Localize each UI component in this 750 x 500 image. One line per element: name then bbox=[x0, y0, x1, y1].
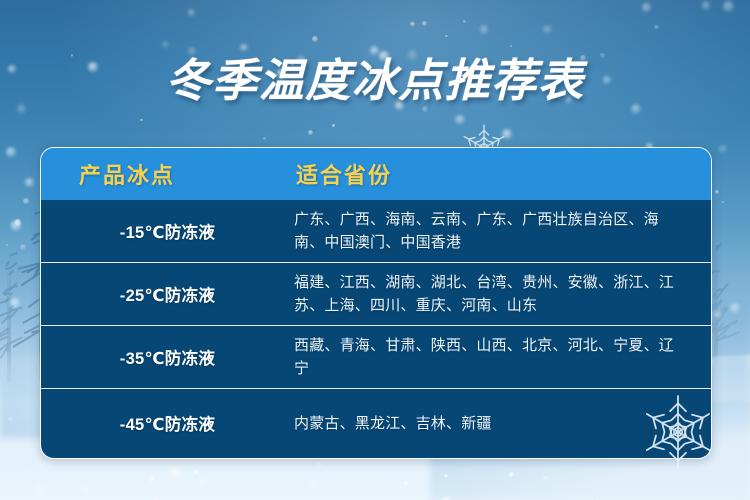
cell-suitable-provinces: 内蒙古、黑龙江、吉林、新疆 bbox=[294, 412, 711, 435]
cell-suitable-provinces: 西藏、青海、甘肃、陕西、山西、北京、河北、宁夏、辽宁 bbox=[294, 334, 711, 380]
column-header-label: 适合省份 bbox=[296, 163, 392, 188]
cell-product-freezing-point: -45℃防冻液 bbox=[41, 411, 294, 435]
table-row: -35℃防冻液 西藏、青海、甘肃、陕西、山西、北京、河北、宁夏、辽宁 bbox=[41, 326, 711, 389]
table-header-row: 产品冰点 适合省份 bbox=[41, 148, 711, 200]
page-title: 冬季温度冰点推荐表 bbox=[0, 44, 750, 109]
cell-product-freezing-point: -35℃防冻液 bbox=[41, 345, 294, 369]
table-header-cell-temp: 产品冰点 bbox=[41, 158, 294, 190]
table-row: -45℃防冻液 内蒙古、黑龙江、吉林、新疆 bbox=[41, 389, 711, 457]
table-header-cell-provinces: 适合省份 bbox=[294, 158, 711, 190]
cell-suitable-provinces: 广东、广西、海南、云南、广东、广西壮族自治区、海南、中国澳门、中国香港 bbox=[294, 208, 711, 254]
cell-product-freezing-point: -25℃防冻液 bbox=[41, 282, 294, 306]
table-row: -15℃防冻液 广东、广西、海南、云南、广东、广西壮族自治区、海南、中国澳门、中… bbox=[41, 200, 711, 263]
poster-canvas: 冬季温度冰点推荐表 bbox=[0, 0, 750, 500]
recommendation-table: 产品冰点 适合省份 -15℃防冻液 广东、广西、海南、云南、广东、广西壮族自治区… bbox=[40, 147, 712, 459]
table-row: -25℃防冻液 福建、江西、湖南、湖北、台湾、贵州、安徽、浙江、江苏、上海、四川… bbox=[41, 263, 711, 326]
column-header-label: 产品冰点 bbox=[79, 163, 175, 188]
cell-suitable-provinces: 福建、江西、湖南、湖北、台湾、贵州、安徽、浙江、江苏、上海、四川、重庆、河南、山… bbox=[294, 271, 711, 317]
cell-product-freezing-point: -15℃防冻液 bbox=[41, 219, 294, 243]
table-body: -15℃防冻液 广东、广西、海南、云南、广东、广西壮族自治区、海南、中国澳门、中… bbox=[41, 200, 711, 458]
